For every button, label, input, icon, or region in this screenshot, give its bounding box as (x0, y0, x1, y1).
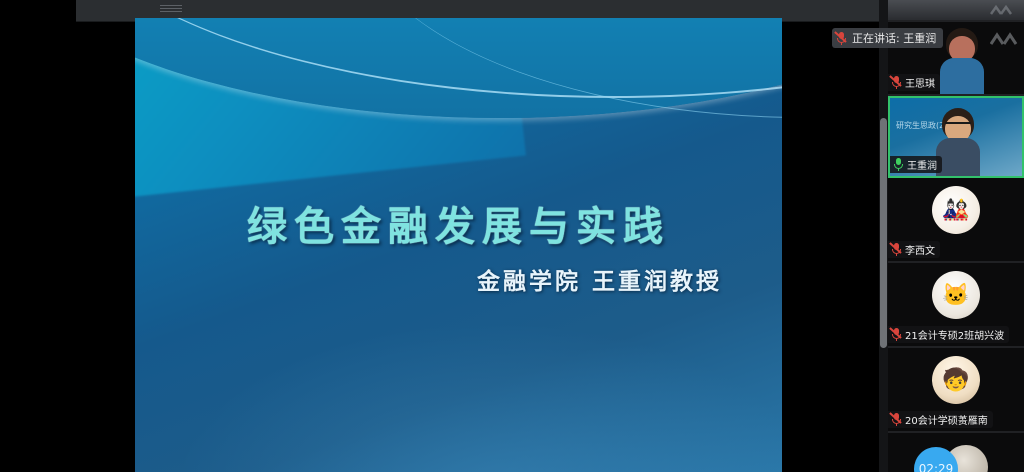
participant-name: 李西文 (905, 242, 935, 257)
slide-decoration-glow (175, 322, 782, 472)
participant-name: 21会计专硕2班胡兴波 (905, 327, 1004, 342)
active-speaker-label: 正在讲话: 王重润 (852, 30, 936, 46)
active-speaker-banner: 正在讲话: 王重润 (832, 28, 943, 48)
avatar-glyph: 🧒 (942, 369, 969, 391)
participant-name: 王重润 (907, 157, 937, 172)
chevrons-icon (990, 5, 1016, 16)
avatar: 🎎 (932, 186, 980, 234)
microphone-muted-icon (891, 328, 902, 341)
slide-subtitle: 金融学院 王重润教授 (477, 262, 722, 296)
toolbar-left-edge (0, 0, 76, 22)
microphone-muted-icon (891, 413, 902, 426)
chevrons-icon (990, 32, 1018, 46)
participants-scrollbar-thumb[interactable] (880, 118, 887, 348)
participant-name-chip: 20会计学硕蒉雁南 (888, 411, 993, 428)
microphone-muted-icon (891, 243, 902, 256)
slide-title: 绿色金融发展与实践 (135, 194, 782, 252)
participants-scrollbar[interactable] (879, 0, 888, 472)
participant-tile-timer[interactable]: 02:29 (888, 433, 1024, 472)
participant-tile-huxingbo[interactable]: 🐱 21会计专硕2班胡兴波 (888, 263, 1024, 348)
presentation-slide: 绿色金融发展与实践 金融学院 王重润教授 (135, 18, 782, 472)
participant-name-chip: 王思琪 (888, 74, 940, 91)
microphone-on-icon (893, 158, 904, 171)
microphone-muted-icon (891, 76, 902, 89)
participant-tile-lixiwen[interactable]: 🎎 李西文 (888, 178, 1024, 263)
participant-name: 20会计学硕蒉雁南 (905, 412, 988, 427)
participants-panel[interactable]: 王思琪 研究生思政(2022) 王重润 🎎 (888, 0, 1024, 472)
avatar-glyph: 🎎 (942, 199, 969, 221)
avatar-glyph: 🐱 (942, 284, 969, 306)
participant-tile-wangchongrun[interactable]: 研究生思政(2022) 王重润 (888, 96, 1024, 178)
shared-screen-stage: 绿色金融发展与实践 金融学院 王重润教授 (0, 22, 881, 472)
meeting-window: 绿色金融发展与实践 金融学院 王重润教授 正在讲话: 王重润 (0, 0, 1024, 472)
avatar: 🐱 (932, 271, 980, 319)
participant-name-chip: 李西文 (888, 241, 940, 258)
toolbar-drag-handle-icon[interactable] (160, 5, 182, 11)
participant-video-figure (936, 108, 980, 175)
participant-name: 王思琪 (905, 75, 935, 90)
participant-tile-partial[interactable] (888, 0, 1024, 22)
participant-tile-kuiyannan[interactable]: 🧒 20会计学硕蒉雁南 (888, 348, 1024, 433)
participant-name-chip: 21会计专硕2班胡兴波 (888, 326, 1009, 343)
participant-name-chip: 王重润 (890, 156, 942, 173)
avatar: 🧒 (932, 356, 980, 404)
microphone-muted-icon (836, 32, 847, 45)
participant-video-figure (940, 28, 984, 95)
